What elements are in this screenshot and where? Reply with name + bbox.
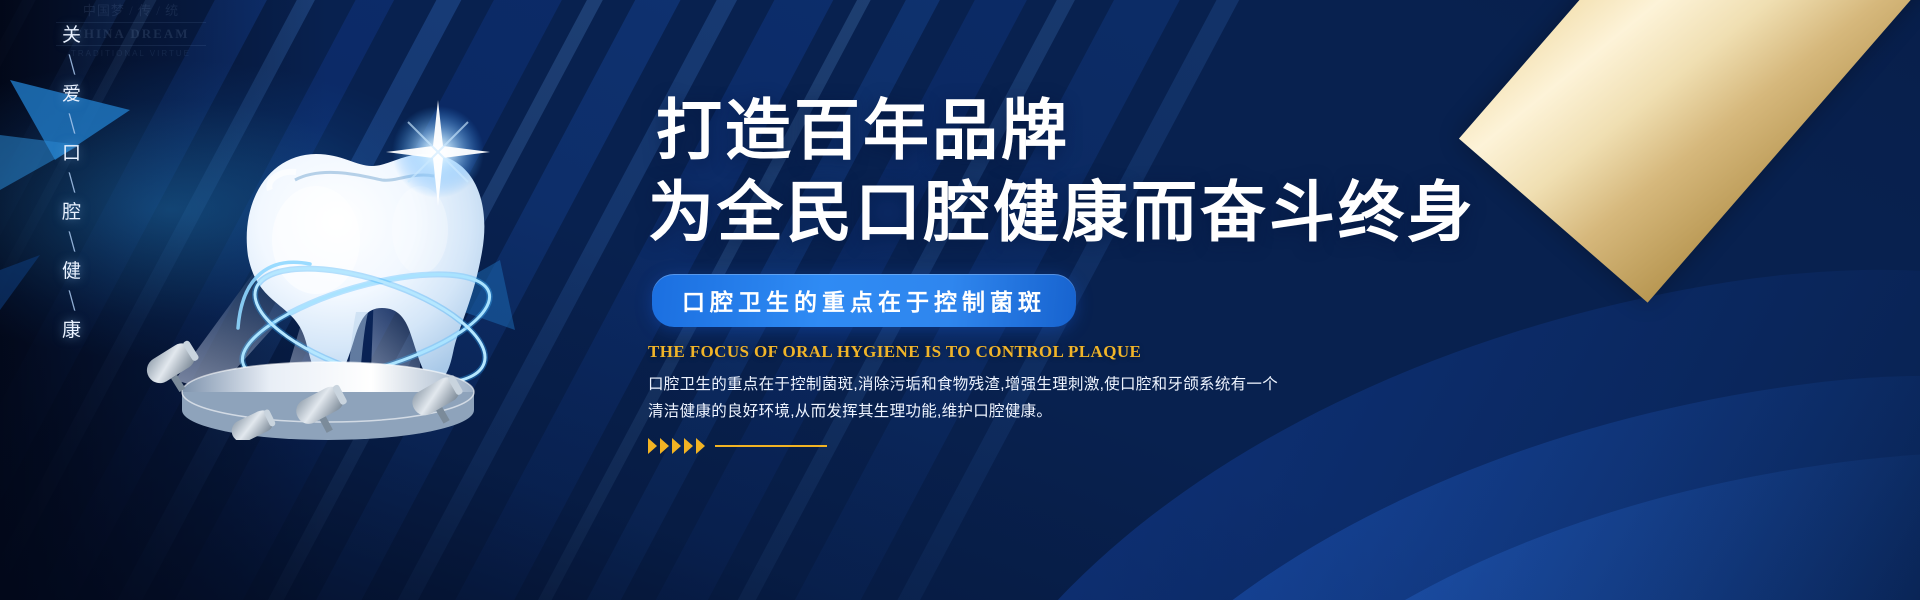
chevron-right-icon	[696, 438, 705, 454]
vertical-char-2: 口	[62, 144, 82, 163]
watermark-line-1: 中国梦 / 传 / 统	[56, 0, 206, 19]
chevron-right-icon	[648, 438, 657, 454]
vertical-char-3: 腔	[62, 203, 82, 222]
headline-line-2: 为全民口腔健康而奋斗终身	[648, 178, 1488, 248]
body-copy-line-2: 清洁健康的良好环境,从而发挥其生理功能,维护口腔健康。	[648, 398, 1488, 425]
body-copy: 口腔卫生的重点在于控制菌斑,消除污垢和食物残渣,增强生理刺激,使口腔和牙颌系统有…	[648, 371, 1488, 425]
chevron-right-icon	[672, 438, 681, 454]
chevron-right-icon	[684, 438, 693, 454]
copy-block: 打造百年品牌 为全民口腔健康而奋斗终身 口腔卫生的重点在于控制菌斑 THE FO…	[648, 96, 1488, 454]
vertical-separator-1: ╲	[65, 113, 79, 135]
chevron-decoration	[648, 438, 1488, 454]
vertical-char-5: 康	[62, 321, 82, 340]
vertical-char-0: 关	[62, 26, 82, 45]
vertical-slogan: 关 ╲ 爱 ╲ 口 ╲ 腔 ╲ 健 ╲ 康	[52, 26, 92, 340]
watermark-rule-top	[56, 22, 206, 23]
tooth-illustration	[120, 80, 520, 440]
headline-line-1: 打造百年品牌	[648, 96, 1488, 166]
vertical-separator-0: ╲	[65, 54, 79, 76]
body-copy-line-1: 口腔卫生的重点在于控制菌斑,消除污垢和食物残渣,增强生理刺激,使口腔和牙颌系统有…	[648, 371, 1488, 398]
vertical-separator-4: ╲	[65, 290, 79, 312]
slogan-badge: 口腔卫生的重点在于控制菌斑	[652, 274, 1076, 327]
vertical-separator-3: ╲	[65, 231, 79, 253]
vertical-char-4: 健	[62, 262, 82, 281]
chevron-right-icon	[660, 438, 669, 454]
english-subtitle: THE FOCUS OF ORAL HYGIENE IS TO CONTROL …	[648, 342, 1488, 362]
corner-ribbon: 关 爱 口 腔 健 康	[1459, 0, 1920, 303]
vertical-separator-2: ╲	[65, 172, 79, 194]
dental-banner: 中国梦 / 传 / 统 CHINA DREAM TRADITIONAL VIRT…	[0, 0, 1920, 600]
vertical-char-1: 爱	[62, 85, 82, 104]
decorative-rule	[715, 445, 827, 447]
